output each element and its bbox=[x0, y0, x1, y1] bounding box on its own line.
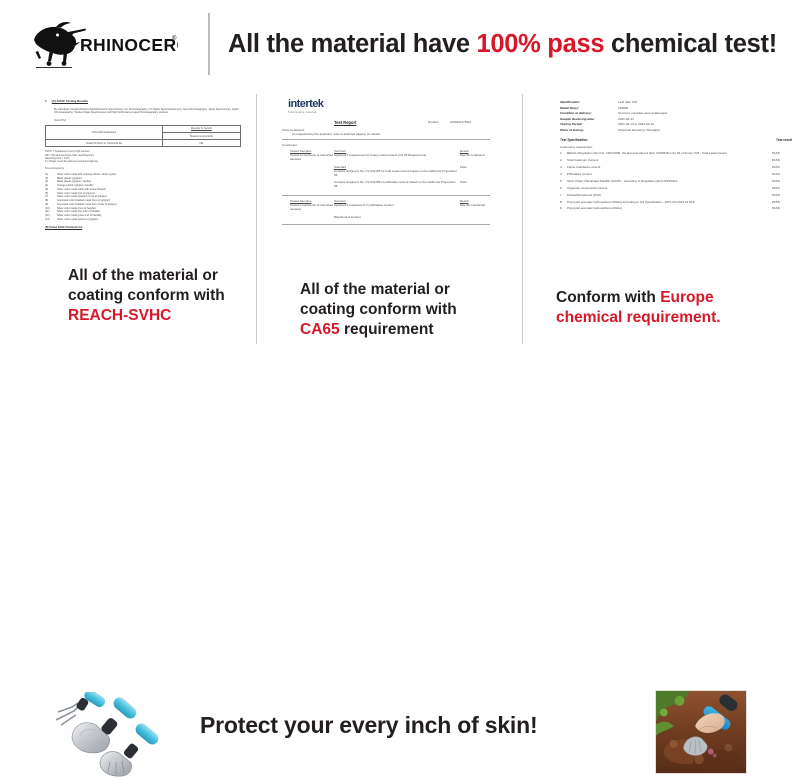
doc2-block2-result: Pass bbox=[460, 181, 490, 185]
doc1-table-caption: Tests (PG) bbox=[45, 119, 241, 122]
item-number: 4. bbox=[560, 172, 567, 177]
rhinoceros-silhouette-icon: RHINOCEROS ® bbox=[22, 18, 178, 70]
claim2-tail: requirement bbox=[340, 321, 434, 338]
doc2-block0-item: Applicant's requirement for heavy metal … bbox=[334, 154, 460, 158]
header-divider bbox=[208, 13, 210, 75]
item-result: PASS bbox=[772, 165, 792, 170]
page-title: All the material have 100% pass chemical… bbox=[228, 30, 777, 59]
claim1-line2: coating conform with bbox=[68, 287, 225, 304]
doc2-block0-result: See list conducted bbox=[460, 154, 490, 158]
claim3-highlight: Europe bbox=[660, 289, 713, 306]
doc1-title: (A) SVHC Testing Results bbox=[52, 100, 88, 104]
item-number: 9. bbox=[560, 206, 567, 211]
item-number: 5. bbox=[560, 179, 567, 184]
doc2-rule-3 bbox=[282, 224, 490, 225]
headline-part2: chemical test! bbox=[604, 30, 777, 58]
item-text: Phthalates content bbox=[567, 172, 772, 177]
item-number: 3. bbox=[560, 165, 567, 170]
list-item: 7.Pentachlorophenol (PCP)PASS bbox=[560, 193, 792, 198]
item-number: 6. bbox=[560, 186, 567, 191]
brand-wordmark: RHINOCEROS bbox=[80, 35, 178, 55]
slide-footer: Protect your every inch of skin! bbox=[0, 340, 800, 449]
doc2-block3-text: Bisphenol-A content bbox=[334, 216, 460, 220]
claim1-line1: All of the material or bbox=[68, 267, 218, 284]
claim-ca65: All of the material or coating conform w… bbox=[300, 280, 500, 339]
doc2-block2-text: Consent Judgment No. CV-231165 on phthal… bbox=[334, 181, 460, 189]
svg-text:®: ® bbox=[172, 35, 177, 42]
doc2-block3-sample: Tested components of submitted samples bbox=[290, 204, 334, 212]
item-result: PASS bbox=[772, 151, 792, 156]
doc1-components-list: (1)Silver color metal with coatings (bla… bbox=[45, 173, 241, 222]
doc3-spec-header: Test Specification: bbox=[560, 138, 776, 142]
item-result: PASS bbox=[772, 193, 792, 198]
claims-row: All of the material or coating conform w… bbox=[0, 258, 800, 340]
claim2-line2: coating conform with bbox=[300, 301, 457, 318]
doc1-results-table: Chemical Substance Results % (w/w)# Test… bbox=[45, 125, 241, 148]
doc2-block3-result: See list Conducted bbox=[460, 204, 490, 208]
headline-part1: All the material have bbox=[228, 30, 477, 58]
doc2-block3-item: Applicant's requirement in phthalates co… bbox=[334, 204, 460, 208]
brand-logo: RHINOCEROS ® bbox=[22, 18, 202, 70]
item-number: 7. bbox=[560, 193, 567, 198]
list-item: 5.Short Chain Chlorinated Paraffin (SCCP… bbox=[560, 179, 792, 184]
doc-svhc-testing-results[interactable]: 1 (A) SVHC Testing Results By Inductivel… bbox=[45, 100, 241, 248]
list-item: 4.Phthalates contentPASS bbox=[560, 172, 792, 177]
doc2-number-value: SZHH01279421 bbox=[450, 121, 490, 125]
doc1-th-substance: Chemical Substance bbox=[46, 125, 163, 139]
garden-hand-tools-image bbox=[52, 692, 178, 778]
item-index: (13) bbox=[45, 218, 54, 222]
doc-chemical-test-certificate[interactable]: Identification:Leaf rake XXL Model No(s)… bbox=[560, 100, 792, 246]
claim3-tail: chemical requirement. bbox=[556, 309, 721, 326]
list-item: 1.REACH Regulation (EC) No. 1907/2006, t… bbox=[560, 151, 792, 156]
item-text: Silver color metal (spring of gripper) bbox=[57, 218, 98, 222]
slide-header: RHINOCEROS ® All the material have 100% … bbox=[0, 0, 800, 88]
claim-reach-svhc: All of the material or coating conform w… bbox=[68, 266, 253, 325]
item-text: Flame retardants content bbox=[567, 165, 772, 170]
doc3-info-table: Identification:Leaf rake XXL Model No(s)… bbox=[560, 100, 792, 133]
item-number: 8. bbox=[560, 200, 567, 205]
list-item: 2.Total Cadmium ContentPASS bbox=[560, 158, 792, 163]
doc1-footer-note: (B) Tested SVHC Chemicals list bbox=[45, 226, 241, 229]
doc1-th-results: Results % (w/w)# bbox=[162, 125, 240, 132]
claim3-line1: Conform with bbox=[556, 289, 660, 306]
doc2-number-label: Number bbox=[428, 121, 450, 125]
doc3-customer-requirement: Customer's requirement: bbox=[560, 145, 792, 149]
item-text: Pentachlorophenol (PCP) bbox=[567, 193, 772, 198]
list-item: 6.Organotin compounds contentPASS bbox=[560, 186, 792, 191]
certificate-thumbnails-row: 1 (A) SVHC Testing Results By Inductivel… bbox=[0, 90, 800, 250]
table-row: Chemical Substance Results % (w/w)# bbox=[46, 125, 241, 132]
doc1-section-no: 1 bbox=[45, 100, 47, 104]
item-result: PASS bbox=[772, 179, 792, 184]
doc1-cell-substance: Tested SVHCs in Chemical list bbox=[46, 140, 163, 147]
doc3-items-list: 1.REACH Regulation (EC) No. 1907/2006, t… bbox=[560, 151, 792, 211]
doc2-block1-result: Pass bbox=[460, 166, 490, 170]
item-result: PASS bbox=[772, 206, 792, 211]
doc2-report-title: Test Report bbox=[334, 120, 428, 125]
doc3-value-place: Chemical laboratory Shanghai bbox=[618, 128, 659, 134]
doc-intertek-test-report[interactable]: intertek Total Quality. Assured. Test Re… bbox=[282, 98, 490, 248]
doc3-result-header: Test result bbox=[776, 138, 792, 142]
item-text: Total Cadmium Content bbox=[567, 158, 772, 163]
item-number: 2. bbox=[560, 158, 567, 163]
item-result: PASS bbox=[772, 186, 792, 191]
item-text: REACH Regulation (EC) No. 1907/2006, the… bbox=[567, 151, 772, 156]
doc3-label-place: Place of testing: bbox=[560, 128, 618, 134]
item-text: Short Chain Chlorinated Paraffin (SCCP) … bbox=[567, 179, 772, 184]
item-text: Organotin compounds content bbox=[567, 186, 772, 191]
item-number: 1. bbox=[560, 151, 567, 156]
item-result: PASS bbox=[772, 200, 792, 205]
table-row: Tested SVHCs in Chemical list ND bbox=[46, 140, 241, 147]
doc3-spec-header-row: Test Specification: Test result bbox=[560, 138, 792, 142]
doc1-th-tested-components: Tested components bbox=[162, 133, 240, 140]
item-result: PASS bbox=[772, 158, 792, 163]
claim2-highlight: CA65 bbox=[300, 321, 340, 338]
item-text: Polycyclic aromatic hydrocarbons (PAHs) bbox=[567, 206, 772, 211]
footer-tagline: Protect your every inch of skin! bbox=[200, 712, 537, 739]
list-item: 9.Polycyclic aromatic hydrocarbons (PAHs… bbox=[560, 206, 792, 211]
list-item: 3.Flame retardants contentPASS bbox=[560, 165, 792, 170]
headline-highlight: 100% pass bbox=[477, 30, 605, 58]
doc1-method: By Inductively Coupled Plasma Optical Em… bbox=[45, 108, 241, 115]
item-text: Polycyclic aromatic hydrocarbons (PAHs) … bbox=[567, 200, 772, 205]
claim1-highlight: REACH-SVHC bbox=[68, 307, 171, 324]
item-result: PASS bbox=[772, 172, 792, 177]
doc1-cell-result: ND bbox=[162, 140, 240, 147]
claim2-line1: All of the material or bbox=[300, 281, 450, 298]
table-row: Place of testing:Chemical laboratory Sha… bbox=[560, 128, 792, 134]
doc2-block0-sample: Tested components of submitted samples bbox=[290, 154, 334, 162]
hand-digging-soil-photo bbox=[655, 690, 747, 774]
doc2-block1-text: Consent Judgment No. CV-231165 for total… bbox=[334, 170, 460, 178]
intertek-logo: intertek bbox=[288, 98, 490, 110]
claim-europe: Conform with Europe chemical requirement… bbox=[556, 288, 786, 328]
list-item: 8.Polycyclic aromatic hydrocarbons (PAHs… bbox=[560, 200, 792, 205]
